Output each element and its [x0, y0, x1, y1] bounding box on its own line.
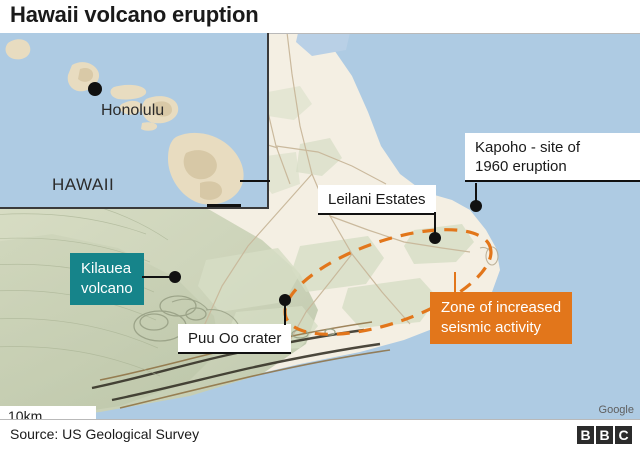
marker-puu-oo-crater	[279, 294, 291, 306]
bbc-logo: B B C	[577, 426, 632, 444]
leader-line-seismic-zone	[454, 272, 456, 293]
bbc-logo-block-2: B	[596, 426, 613, 444]
scale-bar: 10km 5 miles	[0, 406, 96, 419]
inset-map[interactable]: Honolulu HAWAII	[0, 33, 269, 209]
island-kahoolawe	[141, 122, 157, 131]
island-kauai	[6, 39, 31, 59]
marker-kapoho	[470, 200, 482, 212]
callout-kapoho-line1: Kapoho - site of	[475, 138, 630, 157]
callout-kilauea-volcano: Kilauea volcano	[70, 253, 144, 305]
inset-terrain	[0, 33, 267, 207]
bbc-map-graphic: Hawaii volcano eruption	[0, 0, 640, 450]
callout-kilauea-line1: Kilauea	[81, 259, 133, 279]
inset-detail-rectangle	[207, 204, 241, 209]
bbc-logo-block-1: B	[577, 426, 594, 444]
inset-connector-line	[240, 180, 270, 182]
inset-label-honolulu: Honolulu	[101, 102, 164, 120]
callout-seismic-zone: Zone of increased seismic activity	[430, 292, 572, 344]
scale-km-label: 10km	[8, 409, 86, 419]
inset-label-hawaii: HAWAII	[52, 175, 114, 195]
callout-kilauea-line2: volcano	[81, 279, 133, 299]
google-attribution: Google	[599, 404, 634, 416]
marker-leilani-estates	[429, 232, 441, 244]
callout-kapoho: Kapoho - site of 1960 eruption	[465, 133, 640, 182]
callout-leilani-estates: Leilani Estates	[318, 185, 436, 215]
bbc-logo-block-3: C	[615, 426, 632, 444]
callout-kapoho-line2: 1960 eruption	[475, 157, 630, 176]
callout-puu-oo-crater: Puu Oo crater	[178, 324, 291, 354]
source-credit: Source: US Geological Survey	[10, 426, 199, 442]
header-bar: Hawaii volcano eruption	[0, 0, 640, 32]
page-title: Hawaii volcano eruption	[10, 2, 258, 28]
callout-zone-line2: seismic activity	[441, 318, 561, 338]
marker-kilauea-volcano	[169, 271, 181, 283]
footer-bar: Source: US Geological Survey B B C	[0, 419, 640, 450]
honolulu-marker	[88, 82, 102, 96]
callout-zone-line1: Zone of increased	[441, 298, 561, 318]
